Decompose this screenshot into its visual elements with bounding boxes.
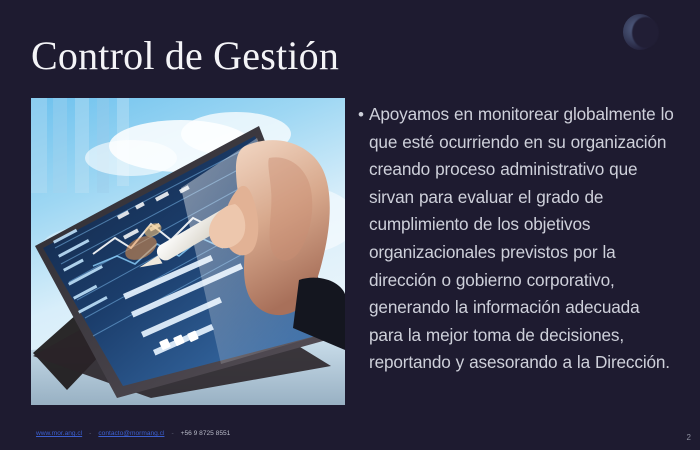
bullet-paragraph: Apoyamos en monitorear globalmente lo qu… <box>369 101 678 377</box>
footer-phone: +56 9 8725 8551 <box>181 429 231 439</box>
body-text-block: • Apoyamos en monitorear globalmente lo … <box>358 101 678 377</box>
page-title: Control de Gestión <box>31 33 339 79</box>
slide: Control de Gestión <box>0 0 700 450</box>
tablet-photo-illustration <box>31 98 345 405</box>
crescent-moon-logo-icon <box>623 14 657 50</box>
footer-separator-2: - <box>171 429 173 439</box>
logo-inner-disc <box>632 17 659 48</box>
footer-website-link[interactable]: www.mor.ang.cl <box>36 429 82 439</box>
page-number: 2 <box>687 433 691 442</box>
slide-image <box>31 98 345 405</box>
bullet-point-icon: • <box>358 101 369 129</box>
bullet-item: • Apoyamos en monitorear globalmente lo … <box>358 101 678 377</box>
footer-separator-1: - <box>89 429 91 439</box>
footer: www.mor.ang.cl - contacto@mormang.cl - +… <box>36 429 230 439</box>
footer-email-link[interactable]: contacto@mormang.cl <box>98 429 164 439</box>
